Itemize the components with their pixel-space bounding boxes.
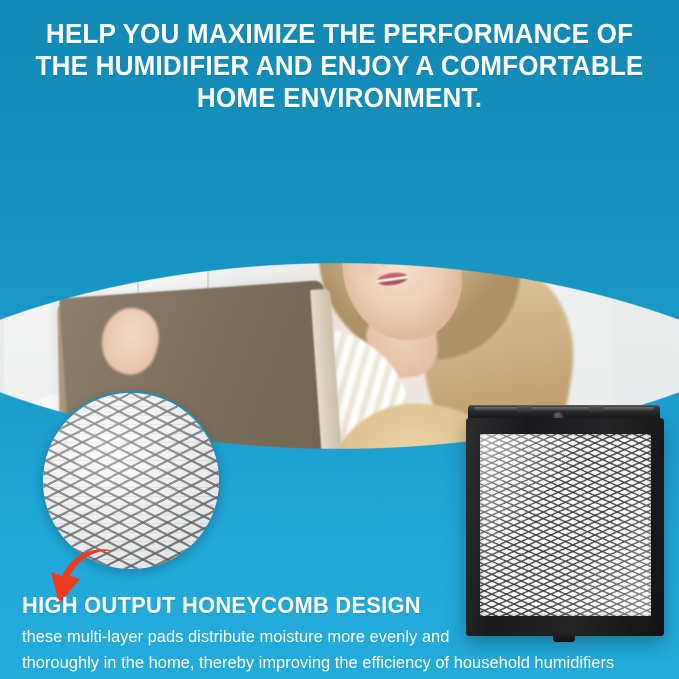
humidifier-filter-product xyxy=(466,405,664,636)
pad-gloss-overlay xyxy=(480,434,651,616)
mesh-shading-overlay xyxy=(43,393,219,569)
honeycomb-closeup-circle xyxy=(41,391,221,571)
child-eye xyxy=(398,481,409,487)
filter-honeycomb-pad xyxy=(480,434,651,616)
child-eye xyxy=(364,483,375,489)
filter-tab xyxy=(517,406,532,415)
filter-frame xyxy=(466,418,664,636)
filter-tab xyxy=(589,406,604,415)
product-marketing-poster: HELP YOU MAXIMIZE THE PERFORMANCE OF THE… xyxy=(0,0,679,679)
feature-description: these multi-layer pads distribute moistu… xyxy=(22,624,669,676)
page-title: HELP YOU MAXIMIZE THE PERFORMANCE OF THE… xyxy=(24,18,655,114)
feature-title: HIGH OUTPUT HONEYCOMB DESIGN xyxy=(22,592,421,619)
blurred-shelf xyxy=(144,147,298,204)
